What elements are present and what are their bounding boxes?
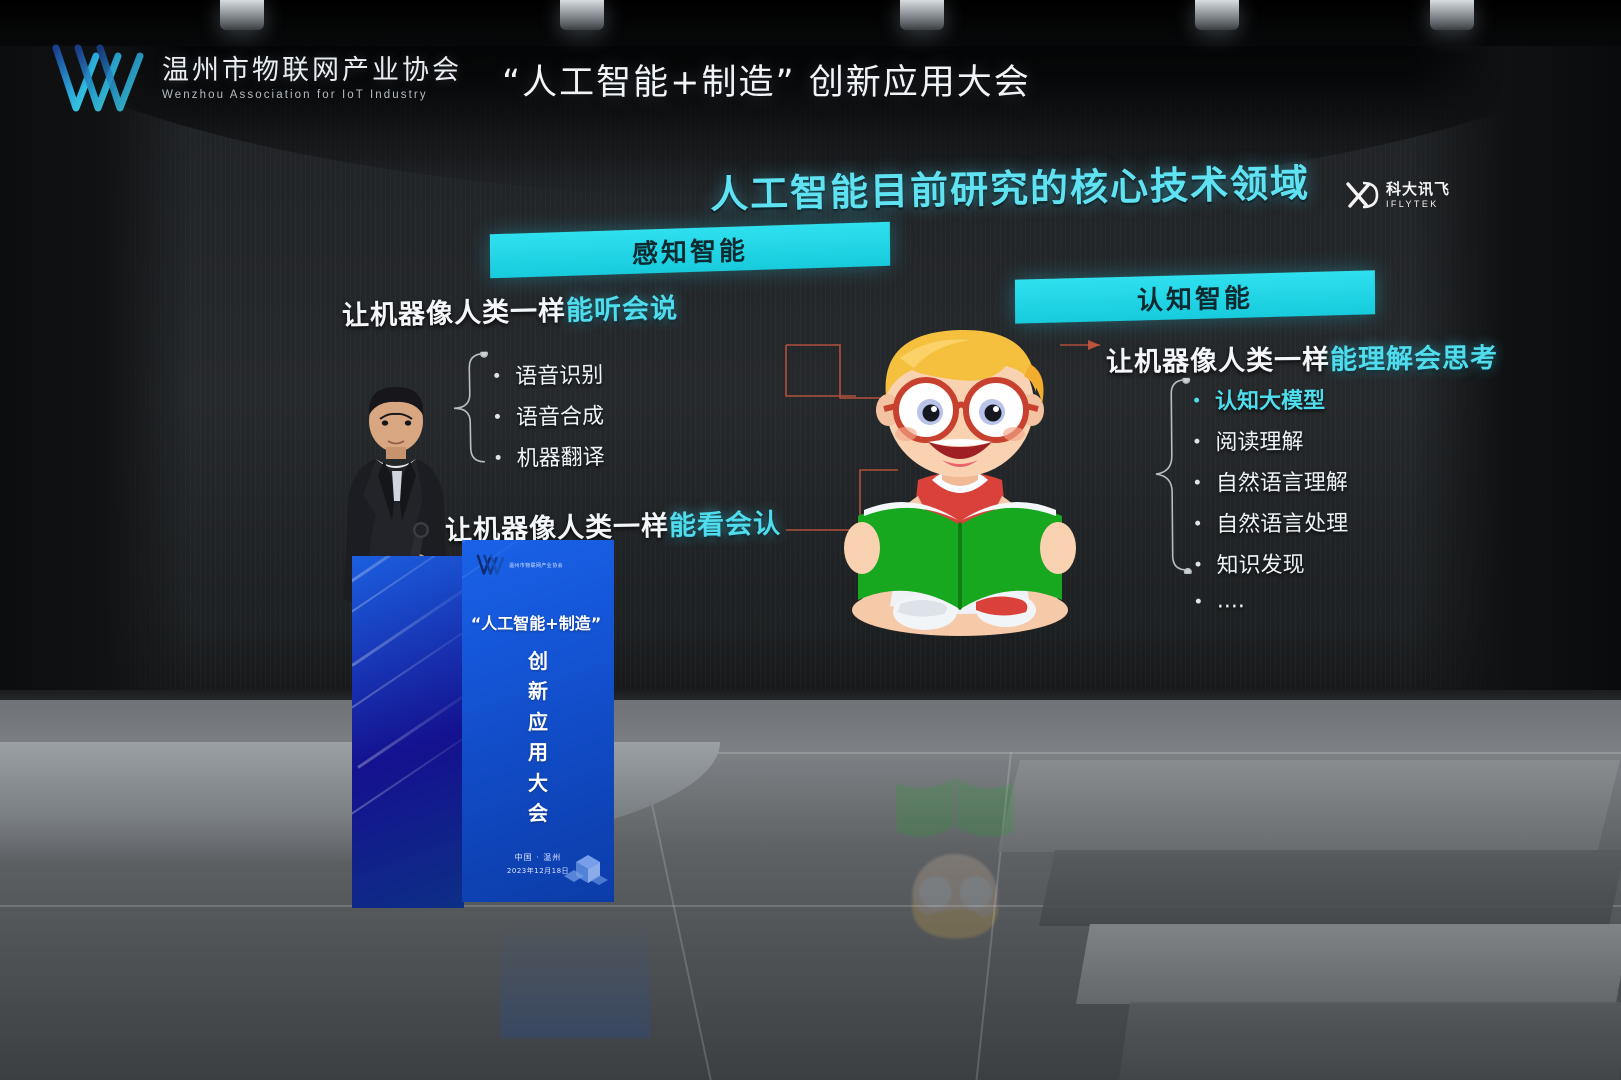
iflytek-logo-icon: [1345, 180, 1381, 210]
iflytek-brand: 科大讯飞 IFLYTEK: [1345, 180, 1450, 210]
bullet-label: 自然语言处理: [1216, 505, 1348, 538]
bullet-label: 机器翻译: [516, 439, 605, 473]
podium-vertical-char: 应: [462, 707, 614, 737]
association-logo: 温州市物联网产业协会 Wenzhou Association for IoT I…: [52, 42, 462, 116]
podium-vertical-char: 大: [462, 768, 614, 798]
bullet-label: 语音合成: [516, 398, 605, 432]
wenzhou-iot-w-logo-icon: [52, 42, 148, 116]
event-title: “人工智能+制造” 创新应用大会: [502, 54, 1031, 105]
bullet-label: ....: [1217, 588, 1245, 613]
podium-vertical-char: 新: [462, 676, 614, 706]
wenzhou-iot-w-logo-icon: [476, 554, 506, 576]
list-item: 自然语言理解: [1195, 464, 1348, 497]
bullet-dot-icon: [1195, 479, 1200, 484]
boy-reading-book-icon: [800, 310, 1120, 640]
list-item: 认知大模型: [1194, 382, 1347, 415]
association-logo-text: 温州市物联网产业协会 Wenzhou Association for IoT I…: [162, 57, 462, 101]
right-brace: [1151, 378, 1193, 574]
iflytek-name-en: IFLYTEK: [1386, 199, 1450, 209]
podium-reflection: [500, 918, 650, 1038]
banner-perception-intelligence: 感知智能: [490, 222, 890, 279]
bullet-label: 知识发现: [1216, 547, 1304, 580]
bullet-label: 认知大模型: [1215, 383, 1325, 416]
list-item: ....: [1196, 587, 1349, 613]
bullet-dot-icon: [1196, 561, 1201, 566]
list-item: 知识发现: [1195, 546, 1348, 579]
podium-logo-caption: 温州市物联网产业协会: [509, 562, 563, 569]
podium-title: “人工智能+制造”: [462, 610, 610, 634]
list-item: 语音识别: [494, 357, 604, 391]
left-subtitle-highlight: 能听会说: [566, 293, 679, 327]
bullet-dot-icon: [496, 454, 501, 459]
bullet-dot-icon: [495, 413, 500, 418]
cube-graphic-icon: [560, 846, 612, 898]
left-bullet-list: 语音识别 语音合成 机器翻译: [494, 357, 605, 482]
left-subtitle-plain: 让机器像人类一样: [342, 296, 567, 332]
bullet-dot-icon: [1194, 438, 1199, 443]
podium-vertical-char: 用: [462, 737, 614, 767]
slide-title: 人工智能目前研究的核心技术领域: [700, 152, 1321, 219]
bullet-label: 自然语言理解: [1216, 464, 1348, 497]
list-item: 自然语言处理: [1195, 505, 1348, 538]
right-subtitle-highlight: 能理解会思考: [1330, 343, 1498, 376]
right-subtitle: 让机器像人类一样能理解会思考: [1106, 336, 1498, 379]
podium-vertical-char: 创: [462, 646, 614, 676]
boy-reflection: [840, 760, 1070, 950]
bullet-dot-icon: [494, 372, 499, 377]
stage-step: [997, 760, 1620, 852]
iflytek-name-cn: 科大讯飞: [1386, 182, 1450, 197]
list-item: 机器翻译: [495, 439, 605, 473]
bullet-dot-icon: [1196, 599, 1201, 604]
podium-vertical-title: 创 新 应 用 大 会: [462, 646, 614, 828]
list-item: 语音合成: [495, 398, 605, 432]
right-bullet-list: 认知大模型 阅读理解 自然语言理解 自然语言处理 知识发现 ....: [1194, 382, 1349, 622]
stage-scene: 温州市物联网产业协会 Wenzhou Association for IoT I…: [0, 0, 1621, 1080]
podium: 温州市物联网产业协会 “人工智能+制造” 创 新 应 用 大 会 中国 · 温州…: [352, 540, 614, 915]
association-name-cn: 温州市物联网产业协会: [162, 57, 462, 85]
stage-step: [1039, 850, 1621, 926]
podium-association-logo: 温州市物联网产业协会: [476, 554, 563, 576]
stage-step: [1076, 924, 1621, 1004]
banner-cognitive-intelligence: 认知智能: [1015, 270, 1375, 323]
podium-front-panel: 温州市物联网产业协会 “人工智能+制造” 创 新 应 用 大 会 中国 · 温州…: [462, 540, 614, 902]
bullet-dot-icon: [1195, 520, 1200, 525]
header-banner: 温州市物联网产业协会 Wenzhou Association for IoT I…: [0, 24, 1621, 134]
bullet-label: 阅读理解: [1215, 424, 1303, 457]
stage-step: [1119, 1002, 1621, 1080]
bullet-dot-icon: [1194, 397, 1199, 402]
podium-vertical-char: 会: [462, 798, 614, 828]
left-subtitle: 让机器像人类一样能听会说: [342, 286, 679, 333]
bullet-label: 语音识别: [515, 357, 604, 391]
left-subtitle-2-highlight: 能看会认: [669, 508, 782, 541]
right-subtitle-plain: 让机器像人类一样: [1106, 345, 1330, 378]
association-name-en: Wenzhou Association for IoT Industry: [162, 89, 462, 101]
podium-side-panel: [352, 556, 464, 908]
list-item: 阅读理解: [1194, 423, 1347, 456]
